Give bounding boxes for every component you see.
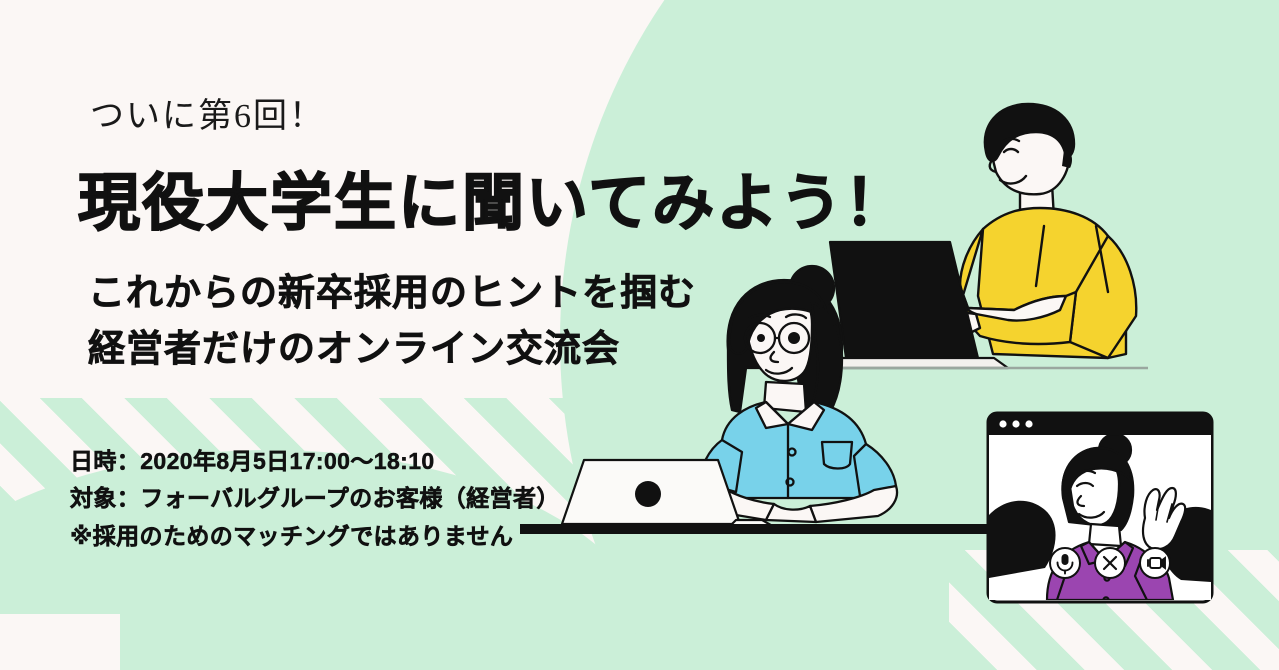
video-feed xyxy=(989,434,1211,603)
video-window-titlebar xyxy=(988,413,1212,435)
woman-laptop-logo xyxy=(635,481,661,507)
detail-disclaimer: ※採用のためのマッチングではありません xyxy=(70,518,560,555)
video-call-window[interactable] xyxy=(985,410,1215,605)
desk-edge-woman xyxy=(520,524,1040,534)
woman-eye-right xyxy=(788,332,800,344)
detail-audience: 対象：フォーバルグループのお客様（経営者） xyxy=(70,480,560,517)
eyebrow-text: ついに第6回！ xyxy=(90,88,325,137)
microphone-control[interactable] xyxy=(1050,548,1080,578)
video-backdrop-left xyxy=(989,501,1056,578)
page-title: 現役大学生に聞いてみよう！ xyxy=(78,152,908,242)
video-call-controls xyxy=(1050,548,1170,578)
titlebar-dot-1 xyxy=(999,420,1006,427)
woman-hands xyxy=(766,504,816,522)
titlebar-dot-2 xyxy=(1012,420,1019,427)
cream-corner-bottom-left xyxy=(0,614,120,670)
woman-typing-laptop-illustration xyxy=(560,272,980,540)
promo-banner: ついに第6回！ 現役大学生に聞いてみよう！ これからの新卒採用のヒントを掴む 経… xyxy=(0,0,1279,670)
event-details-block: 日時：2020年8月5日17:00〜18:10 対象：フォーバルグループのお客様… xyxy=(70,443,560,555)
woman-eye-left xyxy=(757,334,765,342)
camera-control[interactable] xyxy=(1140,548,1170,578)
subtitle-line-2: 経営者だけのオンライン交流会 xyxy=(88,318,620,372)
titlebar-dot-3 xyxy=(1025,420,1032,427)
video-person-neck xyxy=(1089,524,1121,546)
end-call-control[interactable] xyxy=(1095,548,1125,578)
detail-datetime: 日時：2020年8月5日17:00〜18:10 xyxy=(70,443,560,480)
